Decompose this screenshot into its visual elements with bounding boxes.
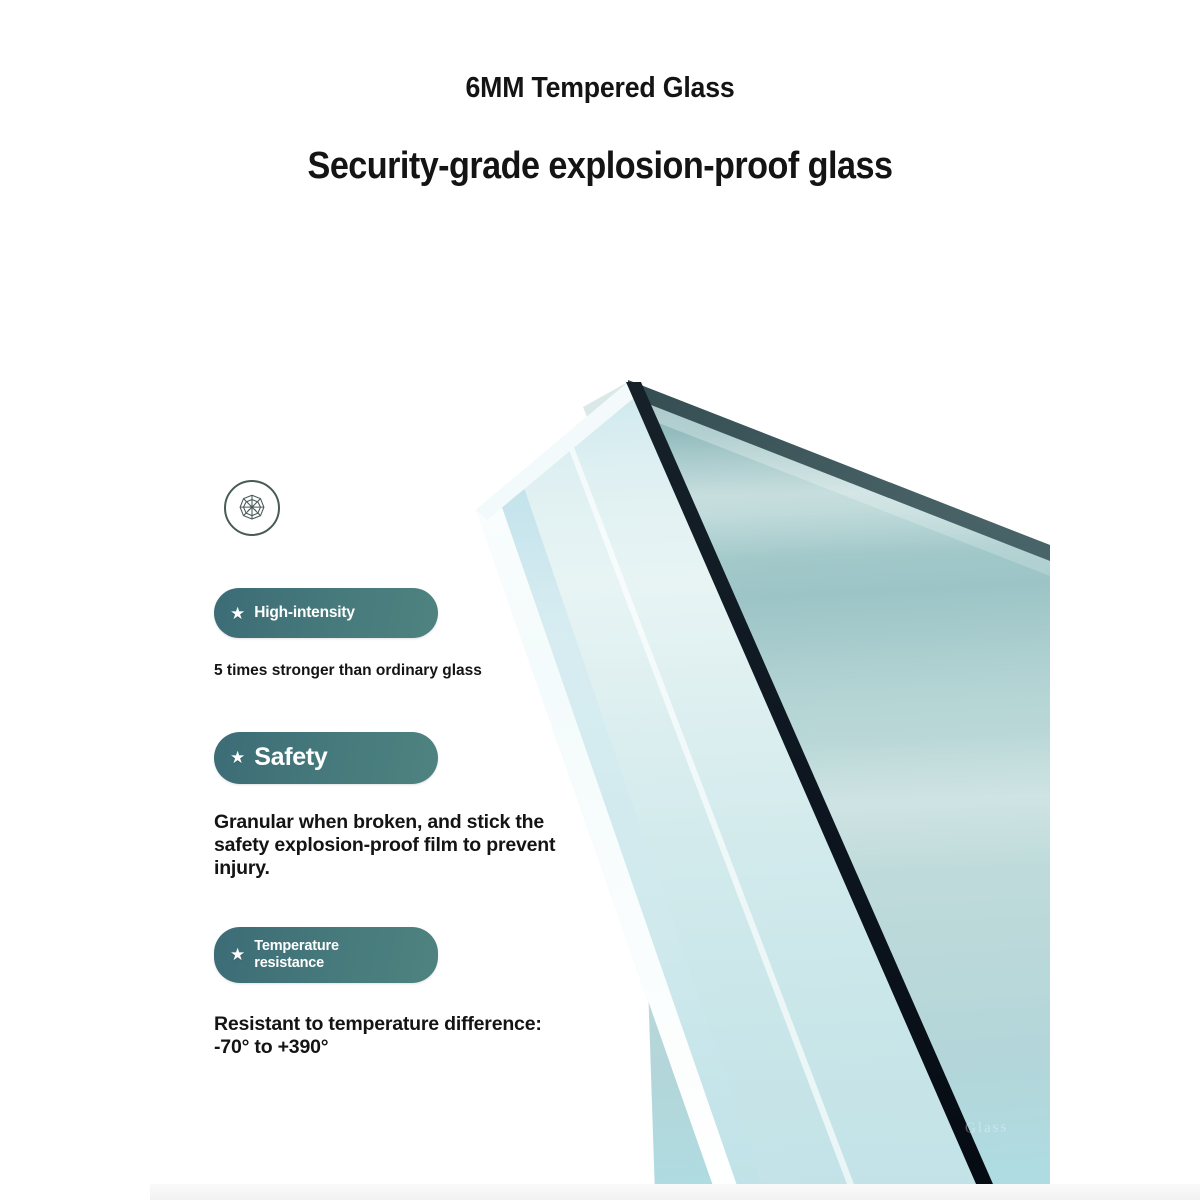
feature-caption-temperature: Resistant to temperature difference: -70… bbox=[214, 1013, 574, 1060]
headings-block: 6MM Tempered Glass Security-grade explos… bbox=[0, 0, 1200, 188]
badge-label: Temperature resistance bbox=[254, 938, 339, 972]
feature-safety: ★ Safety Granular when broken, and stick… bbox=[214, 732, 574, 881]
infographic-page: 6MM Tempered Glass Security-grade explos… bbox=[0, 0, 1200, 1200]
bottom-divider-strip bbox=[150, 1184, 1200, 1200]
feature-caption-safety: Granular when broken, and stick the safe… bbox=[214, 811, 574, 881]
image-watermark: Glass bbox=[965, 1119, 1009, 1138]
feature-list: ★ High-intensity 5 times stronger than o… bbox=[214, 480, 574, 1060]
feature-caption-high-intensity: 5 times stronger than ordinary glass bbox=[214, 662, 574, 680]
diamond-gem-icon bbox=[224, 480, 280, 536]
page-subtitle: Security-grade explosion-proof glass bbox=[60, 105, 1140, 188]
badge-temperature-resistance[interactable]: ★ Temperature resistance bbox=[214, 927, 438, 983]
glass-artwork: Glass bbox=[0, 330, 1200, 1200]
badge-label: Safety bbox=[254, 743, 327, 772]
star-icon: ★ bbox=[230, 605, 245, 622]
badge-safety[interactable]: ★ Safety bbox=[214, 732, 438, 784]
badge-label: High-intensity bbox=[254, 604, 355, 622]
feature-high-intensity: ★ High-intensity 5 times stronger than o… bbox=[214, 588, 574, 680]
star-icon: ★ bbox=[230, 749, 245, 766]
badge-high-intensity[interactable]: ★ High-intensity bbox=[214, 588, 438, 638]
star-icon: ★ bbox=[230, 946, 245, 963]
page-title: 6MM Tempered Glass bbox=[48, 0, 1152, 105]
feature-temperature-resistance: ★ Temperature resistance Resistant to te… bbox=[214, 927, 574, 1060]
